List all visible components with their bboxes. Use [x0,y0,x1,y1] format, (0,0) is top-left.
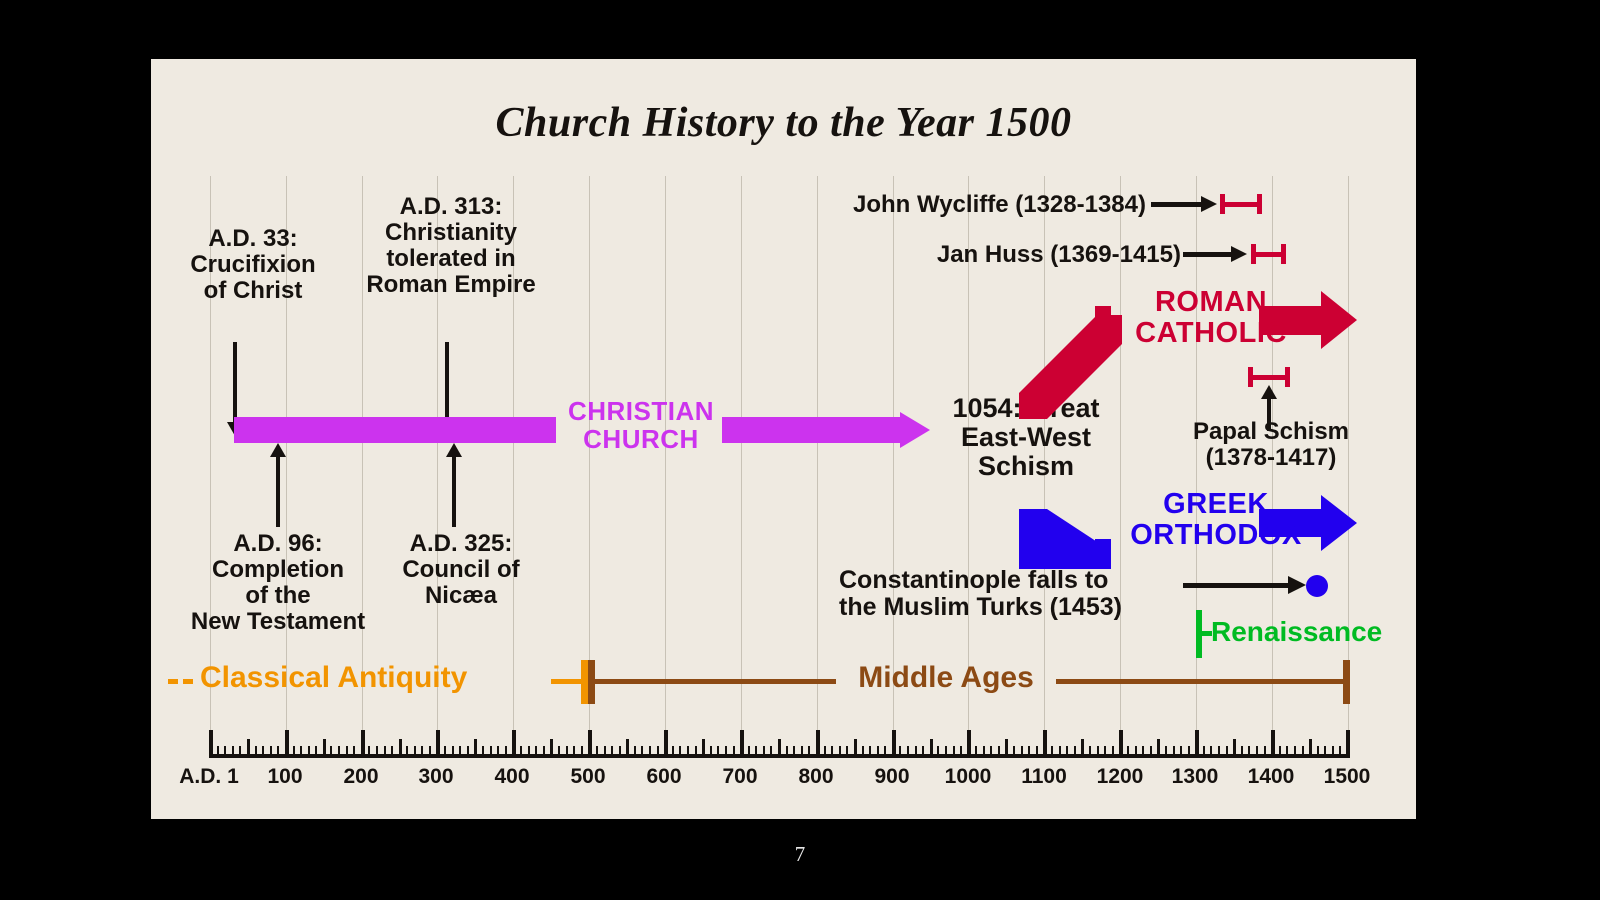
axis-tick-minor [1332,746,1334,754]
axis-tick-minor [1210,746,1212,754]
axis-tick-major [1195,730,1199,754]
axis-tick-minor [490,746,492,754]
renaissance-label: Renaissance [1211,617,1441,647]
axis-tick-major [209,730,213,754]
axis-tick-minor [444,746,446,754]
axis-tick-major [664,730,668,754]
event-label-ad313: A.D. 313: Christianity tolerated in Roma… [351,194,551,298]
arrow-right-icon [1321,495,1357,551]
papal-schism-span-bar [1248,375,1290,380]
axis-tick-minor [899,746,901,754]
gridline [589,176,590,736]
axis-label-0: A.D. 1 [169,765,249,789]
axis-label-14: 1400 [1235,765,1307,789]
axis-tick-minor [1248,746,1250,754]
axis-tick-minor [1324,746,1326,754]
christian-church-bar-segment-1 [234,417,556,443]
constantinople-dot-marker [1306,575,1328,597]
axis-tick-minor [277,746,279,754]
axis-tick-minor [862,746,864,754]
axis-tick-minor [452,746,454,754]
pointer-arrow-ad313 [445,342,449,424]
axis-tick-minor [884,746,886,754]
axis-tick-minor [353,746,355,754]
gridline [741,176,742,736]
axis-tick-minor [376,746,378,754]
axis-tick-minor [467,746,469,754]
axis-tick-minor [1051,746,1053,754]
axis-tick-mid [854,739,857,754]
axis-tick-minor [801,746,803,754]
middle-ages-line-right [1056,679,1348,684]
pointer-arrow-ad96 [276,455,280,527]
axis-tick-minor [308,746,310,754]
axis-tick-mid [474,739,477,754]
axis-tick-mid [1005,739,1008,754]
roman-catholic-bar-segment-1 [1095,306,1111,335]
axis-label-9: 900 [862,765,922,789]
axis-tick-minor [1302,746,1304,754]
axis-tick-minor [482,746,484,754]
papal-schism-span-cap-end [1285,367,1290,387]
axis-tick-minor [1317,746,1319,754]
axis-tick-major [512,730,516,754]
wycliffe-span-cap-end [1257,194,1262,214]
axis-tick-minor [687,746,689,754]
axis-tick-minor [1135,746,1137,754]
axis-tick-minor [1339,746,1341,754]
axis-tick-major [285,730,289,754]
axis-tick-minor [459,746,461,754]
axis-label-5: 500 [558,765,618,789]
axis-tick-minor [384,746,386,754]
axis-tick-mid [702,739,705,754]
huss-span-cap-end [1281,244,1286,264]
axis-tick-minor [1104,746,1106,754]
axis-label-13: 1300 [1159,765,1231,789]
axis-tick-minor [960,746,962,754]
axis-tick-minor [953,746,955,754]
axis-tick-major [1119,730,1123,754]
axis-tick-minor [679,746,681,754]
axis-tick-minor [262,746,264,754]
axis-label-15: 1500 [1311,765,1383,789]
axis-tick-minor [717,746,719,754]
axis-tick-minor [1036,746,1038,754]
axis-label-7: 700 [710,765,770,789]
axis-tick-mid [399,739,402,754]
axis-tick-minor [505,746,507,754]
axis-label-6: 600 [634,765,694,789]
axis-tick-minor [535,746,537,754]
arrow-up-icon [446,443,462,457]
axis-tick-minor [239,746,241,754]
event-label-constantinople: Constantinople falls to the Muslim Turks… [839,567,1169,621]
christian-church-bar-segment-2 [722,417,900,443]
axis-tick-minor [672,746,674,754]
axis-tick-minor [1112,746,1114,754]
axis-tick-minor [619,746,621,754]
axis-tick-mid [323,739,326,754]
axis-tick-minor [990,746,992,754]
huss-arrow-shaft [1183,252,1231,257]
axis-tick-minor [1127,746,1129,754]
axis-tick-minor [710,746,712,754]
axis-tick-minor [573,746,575,754]
axis-tick-minor [520,746,522,754]
papal-schism-span-cap-start [1248,367,1253,387]
wycliffe-span-cap-start [1220,194,1225,214]
axis-tick-mid [1309,739,1312,754]
axis-label-1: 100 [255,765,315,789]
axis-tick-minor [346,746,348,754]
axis-tick-minor [1165,746,1167,754]
axis-tick-minor [831,746,833,754]
axis-tick-minor [596,746,598,754]
axis-tick-minor [391,746,393,754]
axis-tick-minor [770,746,772,754]
axis-tick-minor [915,746,917,754]
middle-ages-end-cap [1343,660,1350,704]
greek-orthodox-bar-segment-1 [1095,539,1111,569]
slide-canvas: Church History to the Year 1500 A.D. 33:… [151,59,1416,819]
event-label-ad33: A.D. 33: Crucifixion of Christ [163,226,343,304]
axis-tick-minor [748,746,750,754]
wycliffe-span-bar [1220,202,1262,207]
axis-tick-minor [566,746,568,754]
axis-tick-minor [1256,746,1258,754]
axis-tick-minor [824,746,826,754]
axis-tick-minor [786,746,788,754]
axis-tick-minor [224,746,226,754]
axis-tick-minor [869,746,871,754]
axis-tick-minor [1203,746,1205,754]
slide-viewer: Church History to the Year 1500 A.D. 33:… [0,0,1600,900]
axis-label-12: 1200 [1084,765,1156,789]
axis-tick-minor [611,746,613,754]
axis-tick-minor [877,746,879,754]
axis-tick-minor [793,746,795,754]
classical-antiquity-dash-2 [183,679,193,684]
arrow-right-icon [1231,246,1247,262]
axis-tick-minor [1173,746,1175,754]
axis-tick-minor [293,746,295,754]
axis-tick-minor [1188,746,1190,754]
axis-tick-minor [497,746,499,754]
axis-tick-minor [937,746,939,754]
axis-tick-minor [1218,746,1220,754]
axis-tick-minor [315,746,317,754]
axis-tick-minor [528,746,530,754]
axis-tick-minor [755,746,757,754]
axis-tick-mid [1157,739,1160,754]
classical-antiquity-end-cap [581,660,588,704]
axis-tick-minor [338,746,340,754]
axis-tick-minor [983,746,985,754]
axis-tick-major [816,730,820,754]
middle-ages-label: Middle Ages [831,662,1061,694]
axis-tick-mid [550,739,553,754]
axis-tick-minor [414,746,416,754]
axis-tick-minor [657,746,659,754]
middle-ages-line-left [588,679,836,684]
axis-label-4: 400 [482,765,542,789]
axis-tick-mid [930,739,933,754]
arrow-up-icon [270,443,286,457]
axis-tick-major [1043,730,1047,754]
event-label-wycliffe: John Wycliffe (1328-1384) [751,192,1146,218]
axis-tick-minor [839,746,841,754]
axis-tick-mid [247,739,250,754]
axis-tick-minor [1066,746,1068,754]
constantinople-arrow-shaft [1183,583,1288,588]
axis-tick-minor [634,746,636,754]
axis-tick-mid [1081,739,1084,754]
axis-tick-major [588,730,592,754]
axis-label-3: 300 [406,765,466,789]
axis-tick-minor [581,746,583,754]
axis-tick-minor [1279,746,1281,754]
axis-tick-minor [406,746,408,754]
axis-tick-minor [1089,746,1091,754]
axis-tick-major [967,730,971,754]
axis-tick-minor [1226,746,1228,754]
axis-tick-major [892,730,896,754]
axis-tick-minor [846,746,848,754]
axis-tick-minor [1241,746,1243,754]
axis-tick-minor [1286,746,1288,754]
classical-antiquity-dash-1 [168,679,178,684]
axis-tick-minor [695,746,697,754]
axis-tick-minor [604,746,606,754]
axis-tick-minor [725,746,727,754]
roman-catholic-label: ROMAN CATHOLIC [1111,287,1311,350]
axis-tick-mid [778,739,781,754]
event-label-ad96: A.D. 96: Completion of the New Testament [178,531,378,635]
axis-tick-minor [421,746,423,754]
axis-tick-major [740,730,744,754]
wycliffe-arrow-shaft [1151,202,1201,207]
arrow-up-icon [1261,385,1277,399]
axis-tick-minor [1028,746,1030,754]
axis-tick-major [361,730,365,754]
axis-tick-minor [368,746,370,754]
arrow-right-icon [1201,196,1217,212]
axis-tick-minor [429,746,431,754]
event-label-ad325: A.D. 325: Council of Nicæa [381,531,541,609]
axis-tick-minor [922,746,924,754]
axis-tick-minor [763,746,765,754]
axis-tick-minor [543,746,545,754]
axis-label-10: 1000 [932,765,1004,789]
axis-label-8: 800 [786,765,846,789]
axis-tick-minor [1150,746,1152,754]
axis-tick-minor [907,746,909,754]
axis-tick-minor [649,746,651,754]
axis-tick-minor [330,746,332,754]
axis-tick-minor [255,746,257,754]
axis-tick-mid [626,739,629,754]
axis-label-11: 1100 [1008,765,1080,789]
arrow-right-icon [1288,576,1306,594]
axis-tick-minor [558,746,560,754]
axis-baseline [209,754,1350,758]
axis-tick-minor [1294,746,1296,754]
axis-tick-minor [1021,746,1023,754]
pointer-arrow-ad325 [452,455,456,527]
event-label-papal-schism: Papal Schism (1378-1417) [1171,419,1371,471]
pointer-arrow-ad33 [233,342,237,424]
greek-orthodox-label: GREEK ORTHODOX [1111,489,1321,552]
axis-tick-minor [232,746,234,754]
axis-tick-minor [733,746,735,754]
axis-tick-minor [1097,746,1099,754]
axis-tick-minor [975,746,977,754]
axis-tick-minor [1264,746,1266,754]
axis-tick-minor [808,746,810,754]
gridline [665,176,666,736]
axis-tick-minor [945,746,947,754]
arrow-right-icon [1321,291,1357,349]
axis-tick-minor [270,746,272,754]
axis-tick-minor [1013,746,1015,754]
timeline-plot: A.D. 33: Crucifixion of Christ A.D. 313:… [151,59,1416,819]
axis-tick-mid [1233,739,1236,754]
huss-span-cap-start [1251,244,1256,264]
axis-tick-minor [641,746,643,754]
axis-tick-minor [998,746,1000,754]
axis-tick-major [436,730,440,754]
christian-church-label: CHRISTIAN CHURCH [551,397,731,453]
event-label-huss: Jan Huss (1369-1415) [801,242,1181,268]
axis-tick-minor [217,746,219,754]
classical-antiquity-label: Classical Antiquity [200,662,600,694]
axis-tick-minor [1074,746,1076,754]
axis-tick-minor [1142,746,1144,754]
axis-tick-major [1346,730,1350,754]
axis-tick-minor [1180,746,1182,754]
axis-tick-minor [1059,746,1061,754]
axis-tick-minor [300,746,302,754]
axis-tick-major [1271,730,1275,754]
axis-label-2: 200 [331,765,391,789]
page-number: 7 [0,842,1600,867]
